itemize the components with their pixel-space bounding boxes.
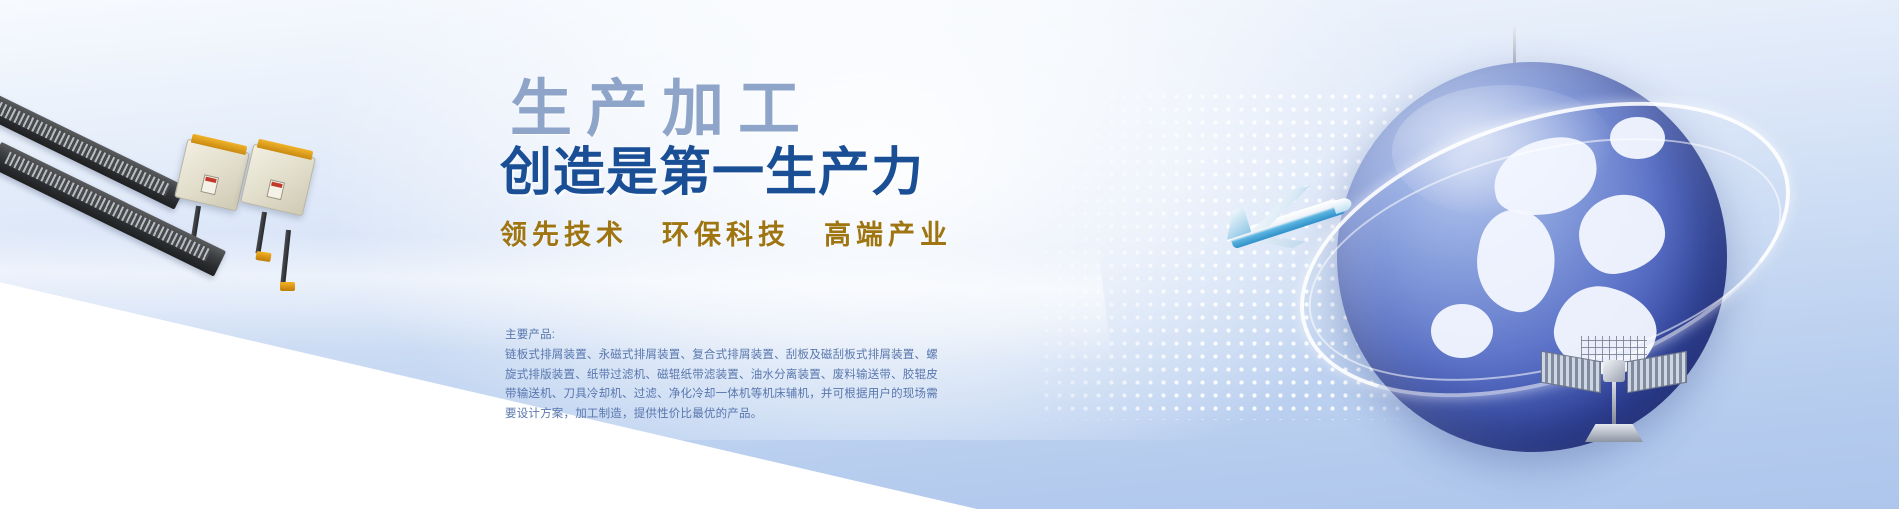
conveyor-head-housing [240,144,316,217]
headline-main: 创造是第一生产力 [500,147,970,199]
product-description-body: 链板式排屑装置、永磁式排屑装置、复合式排屑装置、刮板及磁刮板式排屑装置、螺旋式排… [505,346,945,425]
satellite-antenna-grid [1581,336,1647,362]
conveyor-leg [255,212,267,254]
conveyor-head-housing [174,139,250,212]
satellite-body [1603,360,1625,382]
satellite-mast [1612,382,1616,428]
product-description-lead: 主要产品: [505,326,945,346]
promo-banner: 生产加工 创造是第一生产力 领先技术 环保科技 高端产业 主要产品: 链板式排屑… [0,0,1899,509]
tagline-item-1: 领先技术 [500,213,628,252]
tagline-row: 领先技术 环保科技 高端产业 [500,213,970,252]
satellite-icon [1529,330,1699,470]
conveyor-foot-rear [280,282,295,291]
tagline-item-2: 环保科技 [662,213,790,252]
globe-scene [1199,0,1899,509]
chip-conveyor-illustration [150,130,480,330]
tagline-item-3: 高端产业 [824,213,952,252]
warning-label-icon [200,174,219,195]
satellite-base [1585,424,1643,442]
conveyor-leg-rear [280,230,291,286]
product-description: 主要产品: 链板式排屑装置、永磁式排屑装置、复合式排屑装置、刮板及磁刮板式排屑装… [505,326,945,425]
conveyor-foot [255,251,271,262]
warning-label-icon [266,179,285,200]
headline-ghost: 生产加工 [510,78,970,141]
headline-block: 生产加工 创造是第一生产力 领先技术 环保科技 高端产业 [500,78,970,252]
